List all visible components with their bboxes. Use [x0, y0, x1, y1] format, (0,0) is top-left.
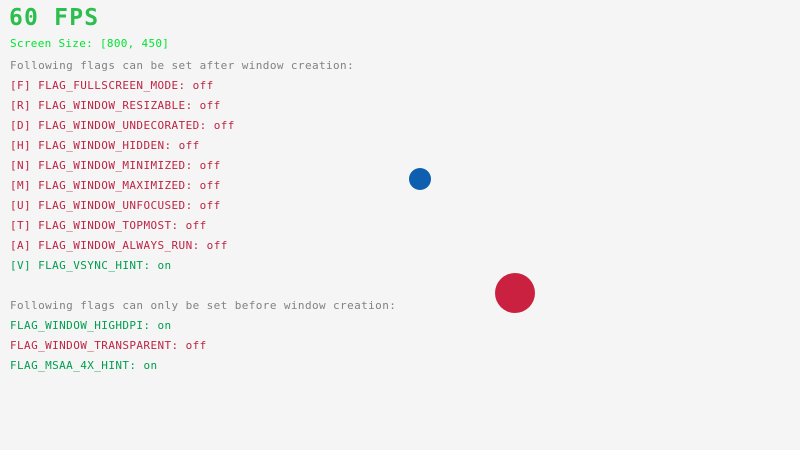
flag-value: on: [158, 259, 172, 272]
flag-name: FLAG_WINDOW_TRANSPARENT:: [10, 339, 179, 352]
flag-hotkey: [N]: [10, 159, 31, 172]
flag-value: off: [207, 239, 228, 252]
flag-name: FLAG_WINDOW_HIGHDPI:: [10, 319, 150, 332]
flag-hotkey: [T]: [10, 219, 31, 232]
flag-after-creation-row[interactable]: [T] FLAG_WINDOW_TOPMOST: off: [10, 219, 235, 239]
flag-after-creation-row[interactable]: [H] FLAG_WINDOW_HIDDEN: off: [10, 139, 235, 159]
flag-before-creation-row[interactable]: FLAG_WINDOW_TRANSPARENT: off: [10, 339, 207, 359]
flag-after-creation-row[interactable]: [D] FLAG_WINDOW_UNDECORATED: off: [10, 119, 235, 139]
flag-hotkey: [M]: [10, 179, 31, 192]
flag-value: off: [193, 79, 214, 92]
red-circle-shape: [495, 273, 535, 313]
flag-after-creation-row[interactable]: [N] FLAG_WINDOW_MINIMIZED: off: [10, 159, 235, 179]
flag-after-creation-row[interactable]: [M] FLAG_WINDOW_MAXIMIZED: off: [10, 179, 235, 199]
flag-value: off: [186, 219, 207, 232]
flag-hotkey: [D]: [10, 119, 31, 132]
flag-after-creation-row[interactable]: [R] FLAG_WINDOW_RESIZABLE: off: [10, 99, 235, 119]
flag-value: on: [157, 319, 171, 332]
flag-value: off: [200, 159, 221, 172]
flag-after-creation-row[interactable]: [A] FLAG_WINDOW_ALWAYS_RUN: off: [10, 239, 235, 259]
flag-name: FLAG_WINDOW_TOPMOST:: [38, 219, 178, 232]
flag-name: FLAG_WINDOW_UNFOCUSED:: [38, 199, 193, 212]
flag-after-creation-row[interactable]: [V] FLAG_VSYNC_HINT: on: [10, 259, 235, 279]
flag-hotkey: [H]: [10, 139, 31, 152]
section-header-after-creation: Following flags can be set after window …: [10, 59, 354, 72]
flag-list-after-creation: [F] FLAG_FULLSCREEN_MODE: off[R] FLAG_WI…: [10, 79, 235, 279]
flag-value: off: [200, 199, 221, 212]
flag-value: off: [200, 99, 221, 112]
raylib-window-flags-demo: 60 FPS Screen Size: [800, 450] Following…: [0, 0, 800, 450]
flag-name: FLAG_WINDOW_RESIZABLE:: [38, 99, 193, 112]
flag-value: off: [179, 139, 200, 152]
flag-name: FLAG_VSYNC_HINT:: [38, 259, 150, 272]
flag-name: FLAG_WINDOW_UNDECORATED:: [38, 119, 207, 132]
flag-hotkey: [A]: [10, 239, 31, 252]
flag-name: FLAG_FULLSCREEN_MODE:: [38, 79, 185, 92]
flag-hotkey: [R]: [10, 99, 31, 112]
flag-name: FLAG_WINDOW_HIDDEN:: [38, 139, 171, 152]
flag-hotkey: [V]: [10, 259, 31, 272]
section-header-before-creation: Following flags can only be set before w…: [10, 299, 396, 312]
flag-name: FLAG_MSAA_4X_HINT:: [10, 359, 136, 372]
flag-after-creation-row[interactable]: [F] FLAG_FULLSCREEN_MODE: off: [10, 79, 235, 99]
fps-counter: 60 FPS: [9, 6, 99, 30]
flag-name: FLAG_WINDOW_MAXIMIZED:: [38, 179, 193, 192]
flag-value: off: [200, 179, 221, 192]
flag-name: FLAG_WINDOW_ALWAYS_RUN:: [38, 239, 200, 252]
flag-name: FLAG_WINDOW_MINIMIZED:: [38, 159, 193, 172]
blue-circle-shape: [409, 168, 431, 190]
flag-hotkey: [F]: [10, 79, 31, 92]
flag-value: off: [186, 339, 207, 352]
flag-list-before-creation: FLAG_WINDOW_HIGHDPI: onFLAG_WINDOW_TRANS…: [10, 319, 207, 379]
flag-value: on: [143, 359, 157, 372]
flag-after-creation-row[interactable]: [U] FLAG_WINDOW_UNFOCUSED: off: [10, 199, 235, 219]
flag-before-creation-row[interactable]: FLAG_WINDOW_HIGHDPI: on: [10, 319, 207, 339]
screen-size-label: Screen Size: [800, 450]: [10, 37, 169, 50]
flag-value: off: [214, 119, 235, 132]
flag-before-creation-row[interactable]: FLAG_MSAA_4X_HINT: on: [10, 359, 207, 379]
flag-hotkey: [U]: [10, 199, 31, 212]
